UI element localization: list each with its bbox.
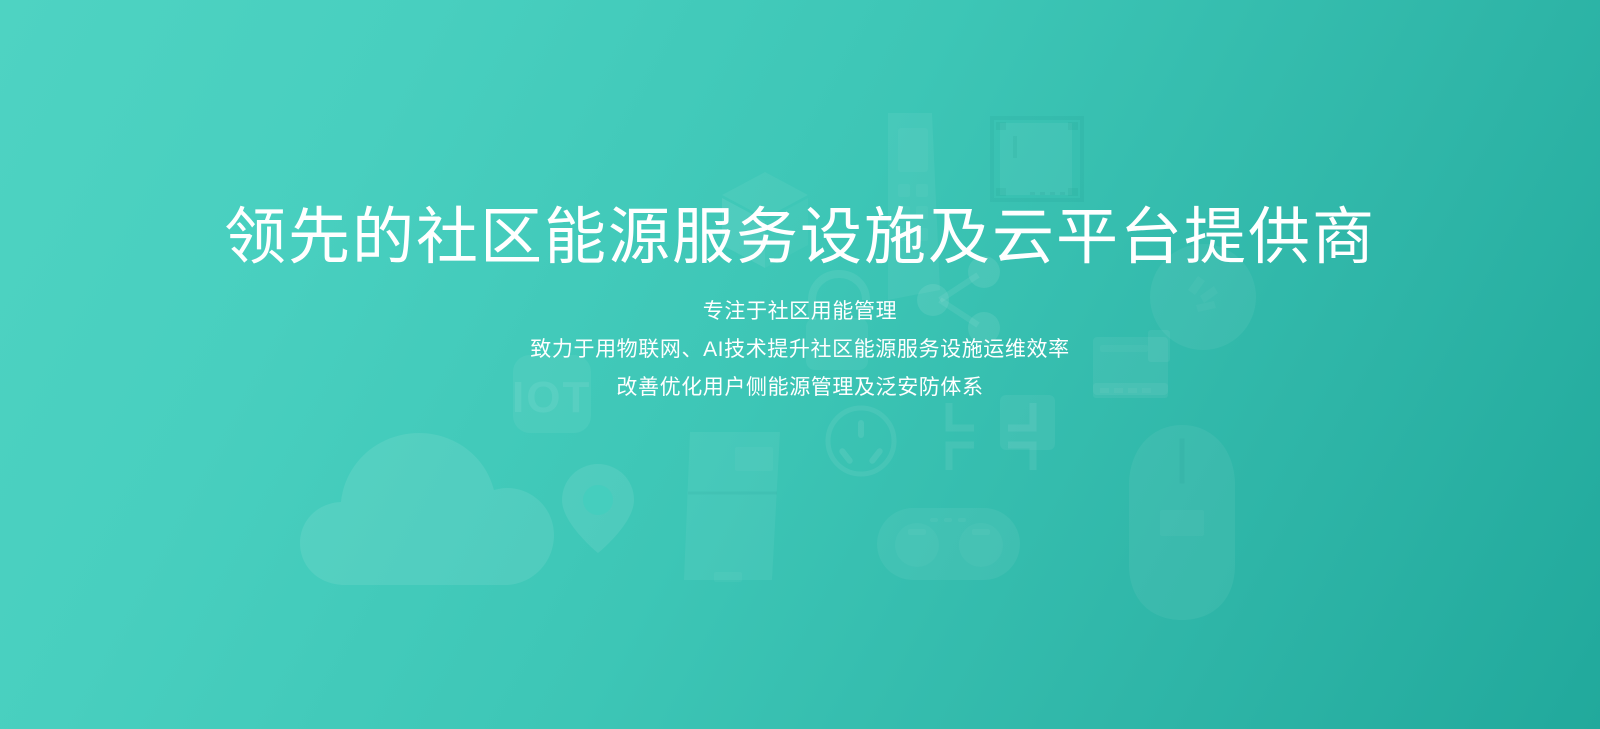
subtitle-line-3: 改善优化用户侧能源管理及泛安防体系: [616, 373, 983, 403]
page-title: 领先的社区能源服务设施及云平台提供商: [224, 207, 1376, 269]
subtitle-block: 专注于社区用能管理 致力于用物联网、AI技术提升社区能源服务设施运维效率 改善优…: [530, 297, 1069, 403]
subtitle-line-2: 致力于用物联网、AI技术提升社区能源服务设施运维效率: [530, 335, 1069, 365]
subtitle-line-1: 专注于社区用能管理: [703, 297, 897, 327]
hero-banner: IOT: [0, 0, 1600, 729]
hero-copy: 领先的社区能源服务设施及云平台提供商 专注于社区用能管理 致力于用物联网、AI技…: [0, 0, 1600, 729]
